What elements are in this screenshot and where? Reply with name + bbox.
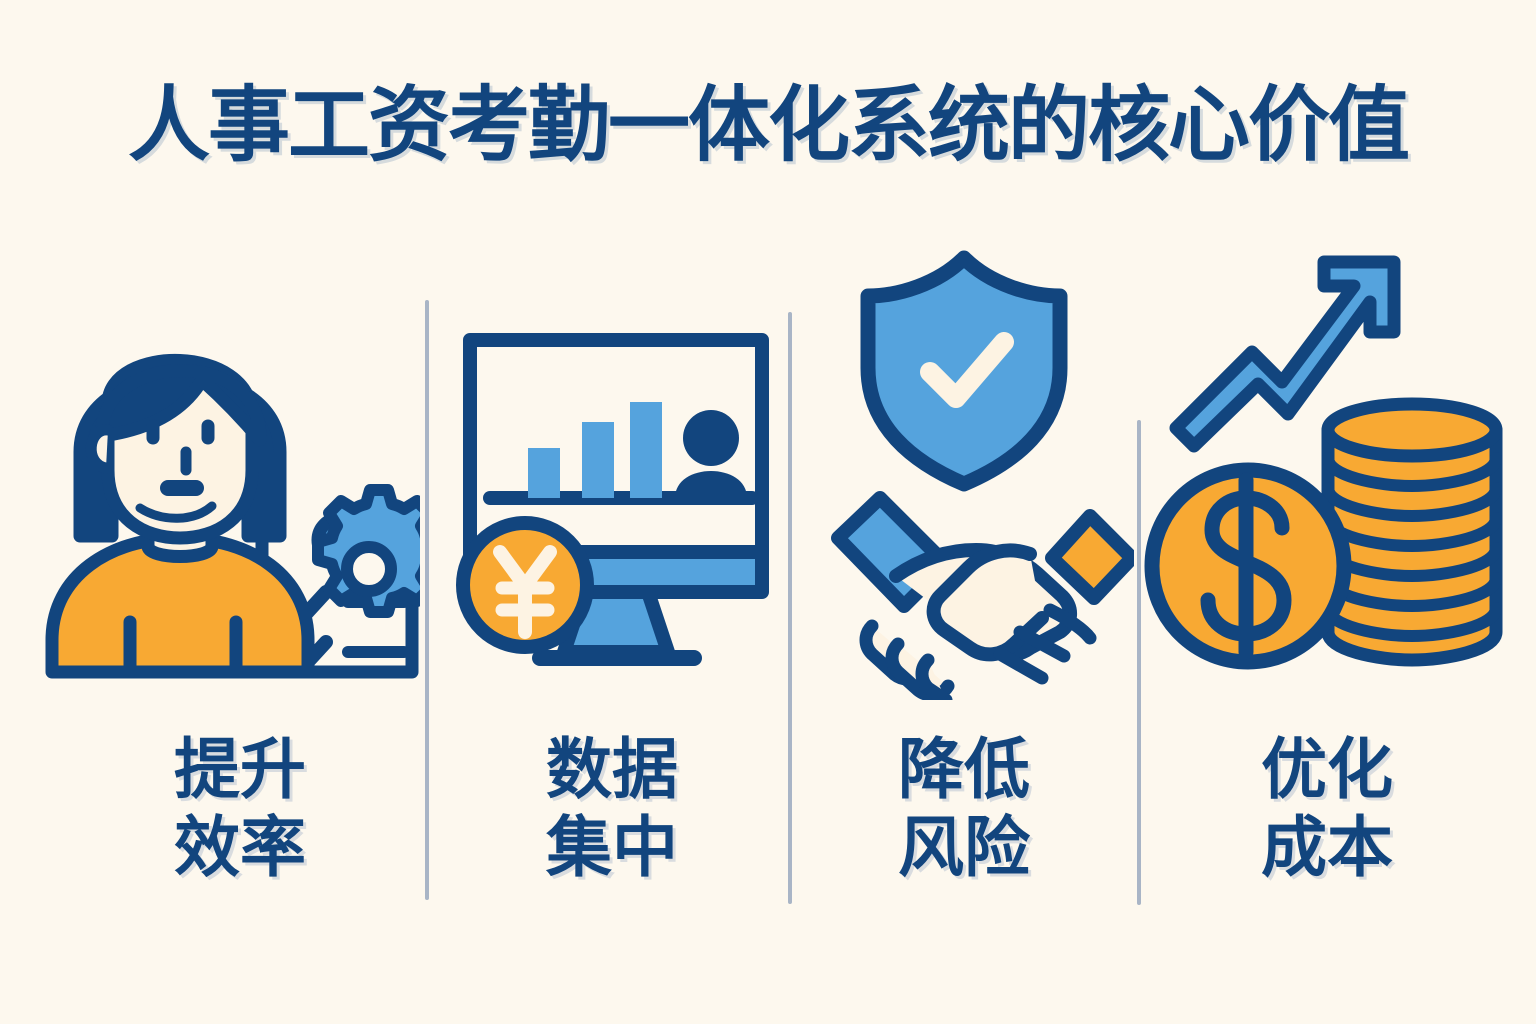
panel-label-line-2: 集中	[436, 808, 788, 886]
dollar-coin-icon	[1152, 470, 1344, 662]
efficiency-icon-group	[40, 240, 420, 700]
panel-label-risk-reduction: 降低 风险	[794, 730, 1134, 886]
panel-label-line-1: 降低	[794, 730, 1134, 808]
panel-label-cost-optimization: 优化 成本	[1142, 730, 1512, 886]
infographic-canvas: 人事工资考勤一体化系统的核心价值	[0, 0, 1536, 1024]
efficiency-illustration	[40, 240, 420, 700]
bar-3	[630, 402, 662, 498]
value-panel-efficiency: 提升 效率	[40, 240, 420, 940]
risk-illustration	[794, 240, 1134, 700]
value-panel-cost-optimization: 优化 成本	[1142, 240, 1512, 940]
panel-label-efficiency: 提升 效率	[40, 730, 430, 886]
panel-label-line-1: 提升	[50, 730, 430, 808]
page-title: 人事工资考勤一体化系统的核心价值	[0, 78, 1536, 174]
risk-icon-group	[794, 240, 1134, 700]
panel-label-line-2: 成本	[1142, 808, 1512, 886]
panel-label-line-1: 数据	[436, 730, 788, 808]
panel-divider-2	[788, 312, 792, 904]
bar-2	[582, 422, 614, 498]
data-icon-group	[432, 240, 784, 700]
panel-divider-3	[1137, 420, 1141, 905]
value-panel-data-centralization: 数据 集中	[432, 240, 784, 940]
shield-check-icon	[868, 258, 1060, 484]
coin-stack-icon	[1328, 404, 1496, 660]
panel-label-line-2: 效率	[50, 808, 430, 886]
value-panel-risk-reduction: 降低 风险	[794, 240, 1134, 940]
panel-label-line-2: 风险	[794, 808, 1134, 886]
panel-label-line-1: 优化	[1142, 730, 1512, 808]
data-illustration	[432, 240, 784, 700]
cost-illustration	[1142, 240, 1512, 700]
cost-icon-group	[1142, 240, 1512, 700]
handshake-icon	[838, 498, 1132, 700]
gear-icon	[318, 490, 420, 612]
person-icon	[52, 360, 308, 672]
bar-1	[528, 448, 560, 498]
yen-coin-icon	[463, 523, 587, 647]
panel-label-data-centralization: 数据 集中	[432, 730, 788, 886]
